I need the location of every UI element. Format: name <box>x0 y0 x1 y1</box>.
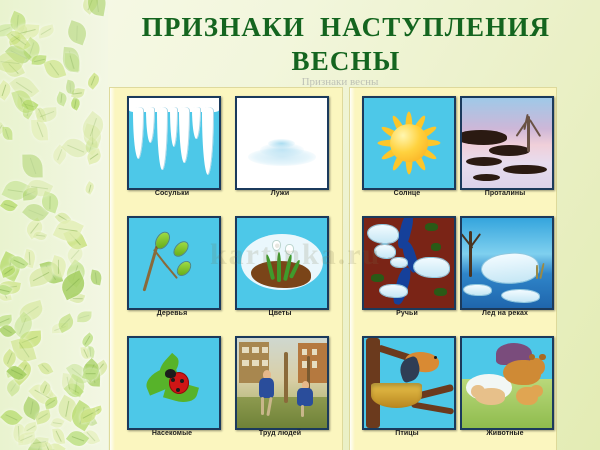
card-thawed-patches[interactable]: Проталины <box>460 96 550 186</box>
leaf-icon <box>52 215 84 246</box>
right-card-grid: Солнце Проталины <box>350 88 556 450</box>
leaf-icon <box>43 57 66 81</box>
card-puddle[interactable]: Лужи <box>235 96 325 186</box>
leaf-icon <box>19 37 44 63</box>
leaf-icon <box>9 312 36 340</box>
leaf-icon <box>43 387 53 400</box>
leaf-icon <box>81 123 104 148</box>
leaf-icon <box>0 322 17 340</box>
leaf-icon <box>32 230 46 242</box>
leaf-icon <box>31 54 46 65</box>
leaf-icon <box>5 41 32 68</box>
leaf-icon <box>21 199 48 226</box>
leaf-icon <box>37 24 55 38</box>
leaf-icon <box>8 34 22 45</box>
leaf-icon <box>64 244 85 265</box>
leaf-icon <box>0 48 25 77</box>
leaf-icon <box>80 332 96 347</box>
card-label: Животные <box>446 430 564 437</box>
leaf-icon <box>52 428 65 445</box>
leaf-icon <box>22 155 42 178</box>
leaf-icon <box>0 282 13 297</box>
leaf-icon <box>76 311 91 323</box>
leaf-icon <box>26 176 53 200</box>
leaf-icon <box>35 409 52 424</box>
card-label: Труд людей <box>221 430 339 437</box>
leaf-icon <box>0 24 13 37</box>
leaf-icon <box>55 91 69 106</box>
falling-leaves-border <box>0 0 108 450</box>
sun-icon <box>362 96 456 190</box>
card-river-ice[interactable]: Лед на реках <box>460 216 550 306</box>
leaf-icon <box>64 53 79 71</box>
slide-canvas: ПРИЗНАКИ НАСТУПЛЕНИЯ ВЕСНЫ Признаки весн… <box>0 0 600 450</box>
card-label: Лед на реках <box>446 310 564 317</box>
leaf-icon <box>6 27 31 54</box>
leaf-icon <box>66 427 89 450</box>
leaf-icon <box>57 270 88 300</box>
leaf-icon <box>41 440 53 450</box>
leaf-icon <box>31 119 48 141</box>
leaf-icon <box>0 279 21 295</box>
leaf-icon <box>89 270 102 286</box>
card-animals[interactable]: Животные <box>460 336 550 426</box>
page-title: ПРИЗНАКИ НАСТУПЛЕНИЯ ВЕСНЫ <box>96 10 596 78</box>
right-sheet: Солнце Проталины <box>350 88 556 450</box>
leaf-icon <box>23 421 38 434</box>
card-label: Деревья <box>113 310 231 317</box>
leaf-icon <box>54 210 71 227</box>
leaf-icon <box>0 251 25 282</box>
snowdrop-icon <box>235 216 329 310</box>
leaf-icon <box>84 365 100 387</box>
leaf-icon <box>11 336 36 364</box>
leaf-icon <box>6 363 26 383</box>
leaf-icon <box>61 47 80 73</box>
leaf-icon <box>7 11 29 34</box>
leaf-icon <box>18 330 41 348</box>
leaf-icon <box>81 427 100 447</box>
leaf-icon <box>85 369 100 385</box>
leaf-icon <box>82 137 101 156</box>
leaf-icon <box>37 360 53 377</box>
card-trees[interactable]: Деревья <box>127 216 217 306</box>
bear-family-icon <box>460 336 554 430</box>
leaf-icon <box>64 380 84 400</box>
leaf-icon <box>67 400 98 432</box>
leaf-icon <box>35 107 47 123</box>
card-birds[interactable]: Птицы <box>362 336 452 426</box>
leaf-icon <box>50 416 64 430</box>
leaf-icon <box>0 197 18 214</box>
card-people-labor[interactable]: Труд людей <box>235 336 325 426</box>
leaf-icon <box>28 266 55 287</box>
card-streams[interactable]: Ручьи <box>362 216 452 306</box>
leaf-icon <box>18 432 36 445</box>
leaf-icon <box>64 227 88 253</box>
leaf-icon <box>37 381 53 397</box>
card-label: Насекомые <box>113 430 231 437</box>
leaf-icon <box>16 96 26 110</box>
leaf-icon <box>0 314 12 327</box>
leaf-icon <box>44 396 59 409</box>
leaf-icon <box>23 187 39 200</box>
leaf-icon <box>39 191 60 213</box>
leaf-icon <box>0 123 7 137</box>
people-working-icon <box>235 336 329 430</box>
leaf-icon <box>69 96 82 110</box>
leaf-icon <box>1 266 17 278</box>
leaf-icon <box>61 134 90 163</box>
leaf-icon <box>89 405 102 416</box>
card-insects[interactable]: Насекомые <box>127 336 217 426</box>
leaf-icon <box>2 127 12 140</box>
leaf-icon <box>30 435 48 448</box>
leaf-icon <box>11 423 28 444</box>
leaf-icon <box>51 323 67 334</box>
leaf-icon <box>78 111 108 142</box>
leaf-icon <box>65 19 90 45</box>
bird-nest-icon <box>362 336 456 430</box>
leaf-icon <box>0 282 12 302</box>
leaf-icon <box>14 23 39 40</box>
leaf-icon <box>21 97 38 113</box>
leaf-icon <box>88 360 108 380</box>
leaf-icon <box>50 144 70 164</box>
leaf-icon <box>56 314 77 334</box>
leaf-icon <box>1 406 24 428</box>
leaf-icon <box>17 300 44 323</box>
leaf-icon <box>83 366 100 382</box>
leaf-icon <box>21 439 52 450</box>
leaf-icon <box>61 374 75 393</box>
leaf-icon <box>5 365 20 378</box>
ladybug-icon <box>127 336 221 430</box>
leaf-icon <box>1 57 24 81</box>
leaf-icon <box>22 249 37 268</box>
leaf-icon <box>44 440 66 450</box>
leaf-icon <box>23 217 45 238</box>
left-card-grid: Сосульки Лужи <box>110 88 342 450</box>
leaf-icon <box>0 80 14 100</box>
river-ice-icon <box>460 216 554 310</box>
leaf-icon <box>69 291 84 304</box>
leaf-icon <box>9 253 28 272</box>
card-label: Цветы <box>221 310 339 317</box>
leaf-icon <box>83 181 95 194</box>
leaf-icon <box>79 408 97 423</box>
left-sheet: Сосульки Лужи <box>110 88 342 450</box>
leaf-icon <box>65 80 76 95</box>
leaf-icon <box>2 177 30 204</box>
leaf-icon <box>0 349 20 369</box>
leaf-icon <box>37 108 57 123</box>
leaf-icon <box>9 72 39 103</box>
leaf-icon <box>66 360 91 387</box>
leaf-icon <box>4 378 22 396</box>
leaf-icon <box>20 102 36 119</box>
thawed-patches-icon <box>460 96 554 190</box>
budding-branch-icon <box>127 216 221 310</box>
card-label: Сосульки <box>113 190 231 197</box>
leaf-icon <box>86 346 96 359</box>
card-label: Лужи <box>221 190 339 197</box>
streams-icon <box>362 216 456 310</box>
leaf-icon <box>11 87 34 115</box>
puddle-icon <box>235 96 329 190</box>
leaf-icon <box>49 255 69 277</box>
leaf-icon <box>29 379 58 409</box>
leaf-icon <box>82 410 98 428</box>
leaf-icon <box>78 358 102 382</box>
leaf-icon <box>81 346 90 359</box>
leaf-icon <box>54 395 81 422</box>
leaf-icon <box>86 149 103 165</box>
leaf-icon <box>13 25 29 40</box>
icicles-icon <box>127 96 221 190</box>
card-flowers[interactable]: Цветы <box>235 216 325 306</box>
card-label: Проталины <box>446 190 564 197</box>
leaf-icon <box>62 259 89 287</box>
leaf-icon <box>72 87 86 99</box>
card-icicles[interactable]: Сосульки <box>127 96 217 186</box>
leaf-icon <box>9 359 35 385</box>
leaf-icon <box>20 397 43 420</box>
leaf-icon <box>64 374 87 398</box>
leaf-icon <box>40 259 63 286</box>
card-sun[interactable]: Солнце <box>362 96 452 186</box>
